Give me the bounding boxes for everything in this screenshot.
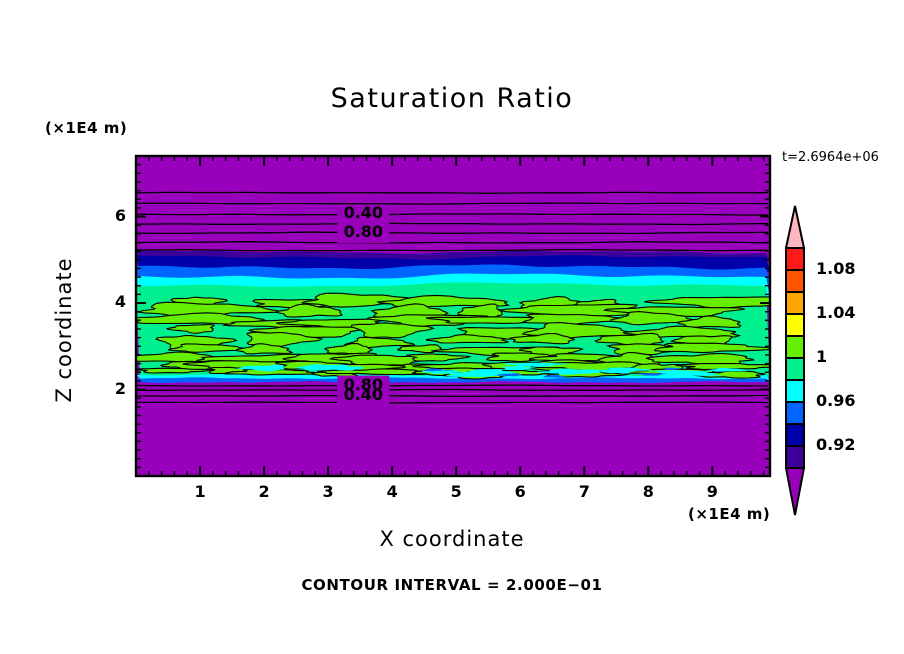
colorbar-tick-label: 0.96	[816, 391, 855, 410]
contour-plot-svg	[0, 0, 904, 654]
x-tick-label: 8	[628, 482, 668, 501]
colorbar	[786, 206, 804, 515]
y-tick-label: 6	[104, 206, 126, 225]
y-tick-label: 4	[104, 292, 126, 311]
x-tick-label: 4	[372, 482, 412, 501]
x-tick-label: 9	[692, 482, 732, 501]
x-tick-label: 6	[500, 482, 540, 501]
colorbar-tick-label: 1	[816, 347, 827, 366]
y-tick-label: 2	[104, 379, 126, 398]
chart-canvas: Saturation Ratio (×1E4 m) t=2.6964e+06 X…	[0, 0, 904, 654]
colorbar-tick-label: 0.92	[816, 435, 855, 454]
colorbar-tick-label: 1.08	[816, 259, 855, 278]
x-tick-label: 3	[308, 482, 348, 501]
contour-label: 0.40	[337, 385, 389, 404]
x-tick-label: 2	[244, 482, 284, 501]
contour-label: 0.40	[337, 203, 389, 222]
colorbar-tick-label: 1.04	[816, 303, 855, 322]
x-tick-label: 5	[436, 482, 476, 501]
contour-label: 0.80	[337, 222, 389, 241]
x-tick-label: 7	[564, 482, 604, 501]
x-tick-label: 1	[180, 482, 220, 501]
